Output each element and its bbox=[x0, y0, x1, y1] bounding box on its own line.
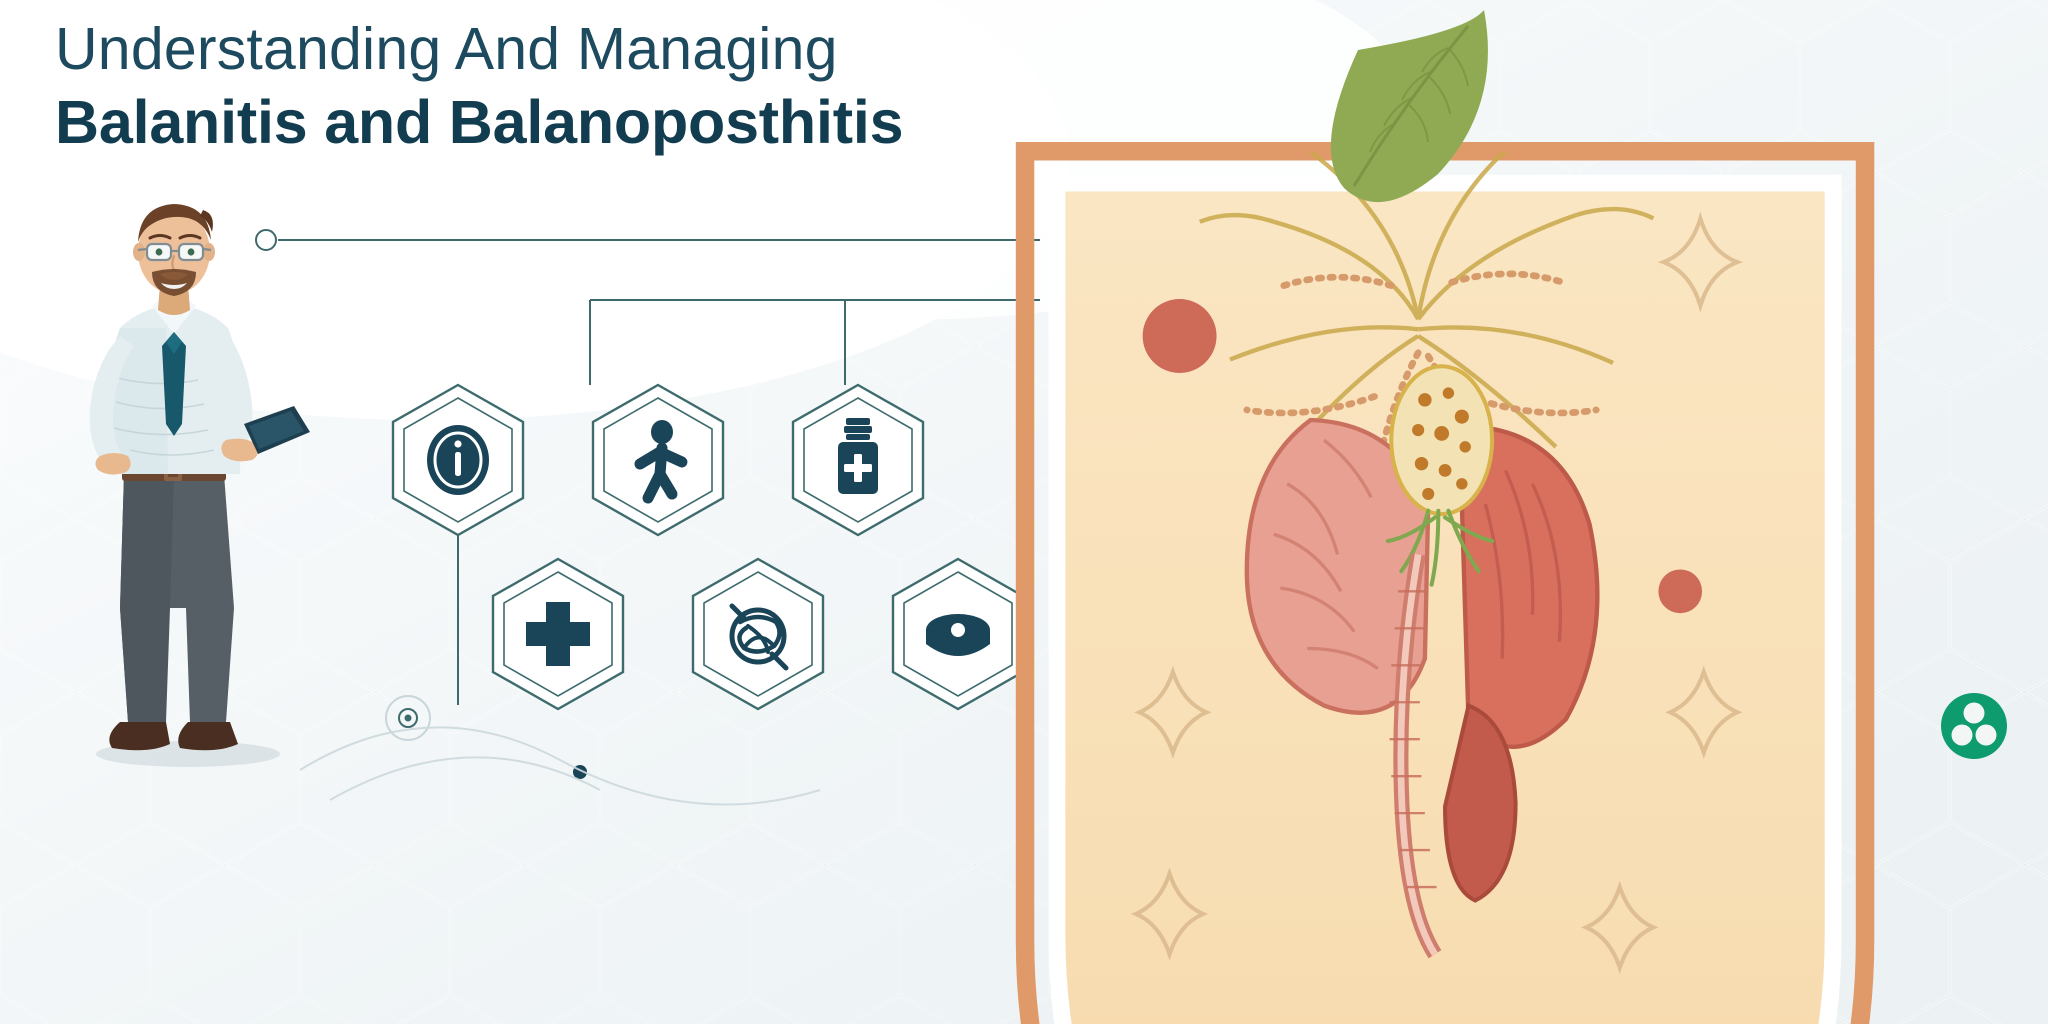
hex-tile-cross[interactable] bbox=[488, 556, 628, 712]
blood-cell bbox=[1143, 299, 1217, 373]
blood-cell bbox=[1658, 570, 1702, 614]
hex-tile-medicine[interactable] bbox=[788, 382, 928, 538]
hex-tile-knot[interactable] bbox=[688, 556, 828, 712]
medicine-bottle-icon bbox=[838, 418, 878, 494]
info-circle-icon bbox=[427, 425, 489, 495]
cap-disc-icon bbox=[926, 614, 990, 656]
bacteria-colony bbox=[1391, 366, 1492, 514]
infographic-banner: Understanding And Managing Balanitis and… bbox=[0, 0, 2048, 1024]
page-title-line-1: Understanding And Managing bbox=[55, 18, 985, 82]
doctor-illustration bbox=[48, 188, 318, 768]
hex-tile-info[interactable] bbox=[388, 382, 528, 538]
brand-logo[interactable] bbox=[1938, 690, 2010, 762]
anatomy-cross-section bbox=[988, 0, 2048, 1024]
connector-dot bbox=[573, 765, 587, 779]
hexagon-icon-cluster bbox=[370, 360, 1060, 720]
leaf-accent bbox=[1331, 10, 1488, 202]
page-title-line-2: Balanitis and Balanoposthitis bbox=[55, 88, 985, 156]
hex-tile-walking[interactable] bbox=[588, 382, 728, 538]
title-block: Understanding And Managing Balanitis and… bbox=[55, 18, 985, 156]
